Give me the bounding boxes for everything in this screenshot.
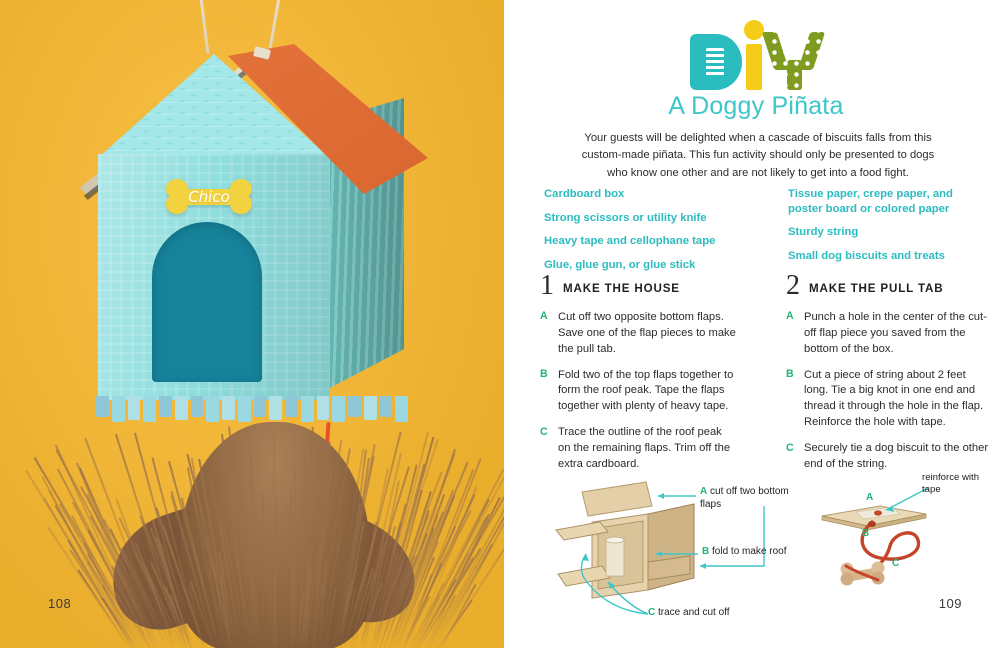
sub-letter: B	[786, 368, 795, 432]
tab-marker-c: C	[892, 558, 899, 569]
doghouse-pinata: Chico	[58, 44, 458, 404]
steps-container: 1 MAKE THE HOUSE A Cut off two opposite …	[504, 275, 1008, 483]
pinata-doorway	[152, 222, 262, 382]
tab-marker-a: A	[866, 492, 873, 503]
box-label-b-letter: B	[702, 546, 709, 557]
step-1-item-c: C Trace the outline of the roof peak on …	[540, 425, 736, 473]
material-item: Cardboard box	[544, 187, 730, 202]
logo-i-stem	[746, 44, 762, 90]
logo-i-dot	[744, 20, 764, 40]
box-label-c-text: trace and cut off	[658, 607, 730, 618]
sub-text: Securely tie a dog biscuit to the other …	[804, 441, 992, 473]
sub-letter: A	[786, 310, 795, 358]
sub-text: Cut a piece of string about 2 feet long.…	[804, 368, 992, 432]
sub-text: Fold two of the top flaps together to fo…	[558, 368, 736, 416]
dog-fur-strands	[120, 372, 450, 648]
material-item: Tissue paper, crepe paper, and poster bo…	[788, 187, 982, 216]
step-2-item-a: A Punch a hole in the center of the cut-…	[786, 310, 992, 358]
step-1-item-a: A Cut off two opposite bottom flaps. Sav…	[540, 310, 736, 358]
left-page-photo: Chico 108	[0, 0, 504, 648]
box-label-b: B fold to make roof	[702, 546, 792, 559]
material-item: Heavy tape and cellophane tape	[544, 234, 730, 249]
logo-letter-y-icon	[766, 32, 822, 90]
step-1-number: 1	[540, 275, 554, 297]
box-label-a-letter: A	[700, 486, 707, 497]
materials-column-right: Tissue paper, crepe paper, and poster bo…	[756, 187, 1008, 282]
material-item: Sturdy string	[788, 225, 982, 240]
material-item: Strong scissors or utility knife	[544, 211, 730, 226]
step-1-header: 1 MAKE THE HOUSE	[540, 275, 736, 297]
materials-list: Cardboard box Strong scissors or utility…	[504, 187, 1008, 282]
book-spread: Chico 108	[0, 0, 1008, 648]
cardboard-box-diagram: A cut off two bottom flaps B fold to mak…	[548, 470, 798, 620]
step-1-column: 1 MAKE THE HOUSE A Cut off two opposite …	[504, 275, 756, 483]
project-title: A Doggy Piñata	[504, 92, 1008, 121]
step-2-title: MAKE THE PULL TAB	[809, 282, 943, 297]
material-item: Glue, glue gun, or glue stick	[544, 258, 730, 273]
project-intro-paragraph: Your guests will be delighted when a cas…	[576, 130, 940, 182]
sub-text: Punch a hole in the center of the cut-of…	[804, 310, 992, 358]
sub-text: Cut off two opposite bottom flaps. Save …	[558, 310, 736, 358]
sub-letter: A	[540, 310, 549, 358]
box-label-a-text: cut off two bottom flaps	[700, 486, 789, 510]
step-2-column: 2 MAKE THE PULL TAB A Punch a hole in th…	[756, 275, 1008, 483]
sub-letter: C	[540, 425, 549, 473]
box-label-b-text: fold to make roof	[712, 546, 786, 557]
materials-column-left: Cardboard box Strong scissors or utility…	[504, 187, 756, 282]
page-number-left: 108	[48, 596, 71, 611]
step-2-number: 2	[786, 275, 800, 297]
step-2-item-b: B Cut a piece of string about 2 feet lon…	[786, 368, 992, 432]
sub-letter: B	[540, 368, 549, 416]
page-number-right: 109	[939, 596, 962, 611]
pull-tab-callout: reinforce with tape	[922, 472, 992, 496]
bone-name-tag: Chico	[166, 180, 252, 214]
step-1-item-b: B Fold two of the top flaps together to …	[540, 368, 736, 416]
right-page-instructions: A Doggy Piñata Your guests will be delig…	[504, 0, 1008, 648]
box-label-c: C trace and cut off	[648, 607, 778, 620]
diy-logo	[504, 18, 1008, 90]
logo-d-stripes	[706, 48, 724, 78]
pull-tab-diagram: reinforce with tape A B C	[810, 470, 990, 600]
logo-letter-i-icon	[744, 20, 764, 90]
step-2-header: 2 MAKE THE PULL TAB	[786, 275, 992, 297]
box-label-c-letter: C	[648, 607, 655, 618]
sub-letter: C	[786, 441, 795, 473]
dog-photo-subject	[120, 372, 450, 648]
tab-marker-b: B	[862, 528, 869, 539]
logo-letter-d-icon	[690, 34, 742, 90]
pinata-name-text: Chico	[166, 180, 252, 214]
material-item: Small dog biscuits and treats	[788, 249, 982, 264]
sub-text: Trace the outline of the roof peak on th…	[558, 425, 736, 473]
step-2-item-c: C Securely tie a dog biscuit to the othe…	[786, 441, 992, 473]
step-1-title: MAKE THE HOUSE	[563, 282, 680, 297]
logo-y-dots	[766, 32, 822, 90]
box-label-a: A cut off two bottom flaps	[700, 486, 796, 511]
